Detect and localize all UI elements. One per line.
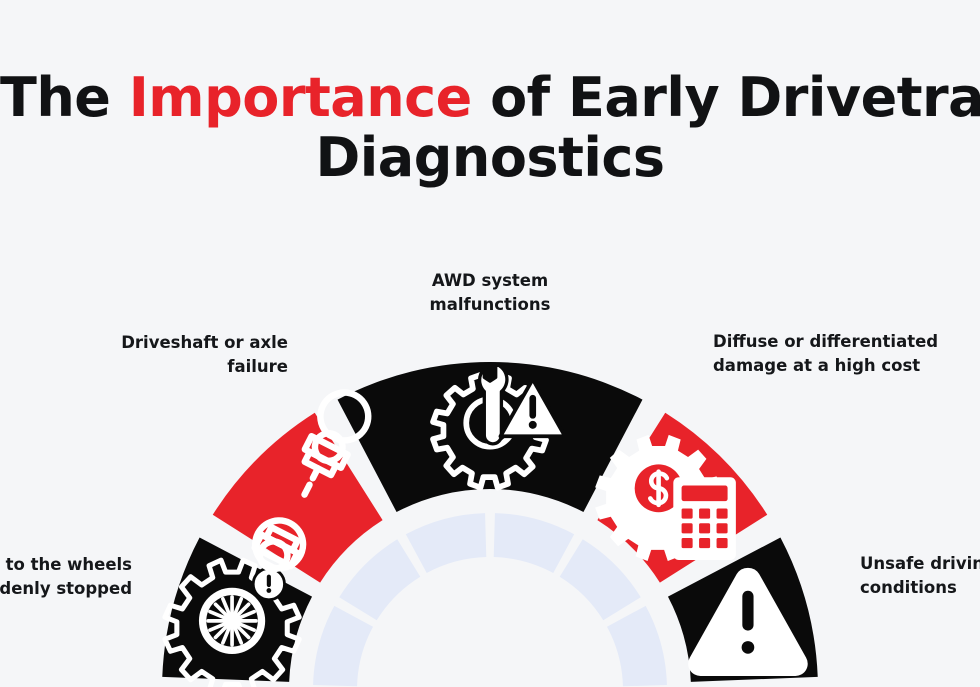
infographic-canvas: The Importance of Early Drivetrain Diagn… (0, 0, 980, 687)
label-high-cost-damage: Diffuse or differentiated damage at a hi… (713, 330, 980, 378)
inner-ring-segment (339, 539, 420, 620)
title-line-1: The Importance of Early Drivetrain (0, 68, 980, 128)
wheel-segments (162, 362, 817, 682)
inner-ring-segment (494, 513, 574, 573)
label-awd-system-malfunctions: AWD system malfunctions (370, 269, 610, 317)
inner-ring-segment (607, 606, 667, 686)
inner-ring-segment (560, 539, 641, 620)
inner-ring-segment (313, 606, 373, 686)
title-text-pre: The (0, 66, 129, 129)
inner-decorative-ring (313, 513, 667, 686)
title-text-post: of Early Drivetrain (472, 66, 980, 129)
title-line-2: Diagnostics (0, 128, 980, 188)
wheel-segment-high-cost-damage[interactable] (597, 413, 767, 583)
label-power-to-wheels: Power to the wheels is suddenly stopped (0, 553, 132, 601)
inner-ring-segment (406, 513, 486, 573)
wheel-segment-driveshaft-axle-failure[interactable] (213, 413, 383, 583)
wheel-segment-awd-system-malfunctions[interactable] (338, 362, 643, 512)
title-accent-word: Importance (129, 66, 472, 129)
page-title: The Importance of Early Drivetrain Diagn… (0, 68, 980, 189)
label-driveshaft-axle-failure: Driveshaft or axle failure (25, 331, 288, 379)
label-unsafe-driving-conditions: Unsafe driving conditions (860, 552, 980, 600)
